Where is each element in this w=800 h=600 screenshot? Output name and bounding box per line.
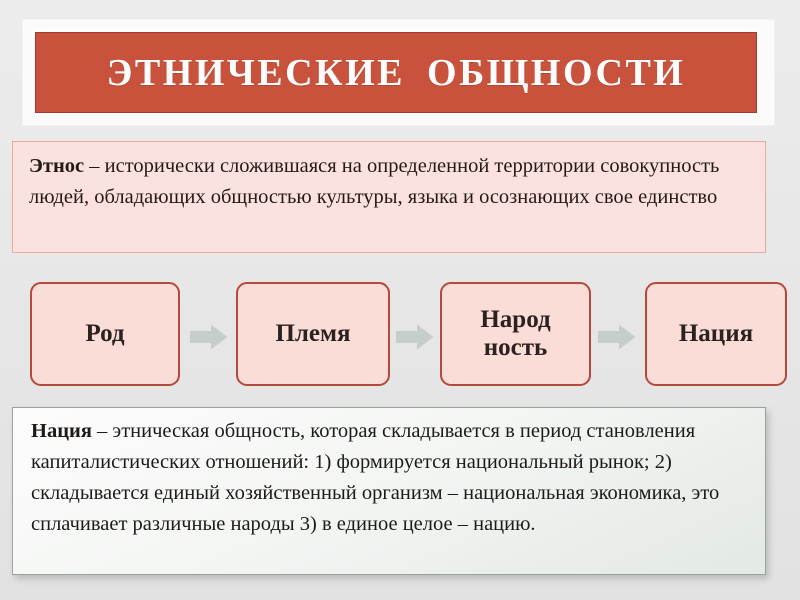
ethnic-stage-chain: Род Племя Народ ность Нация: [0, 282, 800, 386]
ethnos-definition-box: Этнос – исторически сложившаяся на опред…: [12, 141, 766, 253]
stage-label-plemya: Племя: [275, 320, 350, 348]
stage-label-natsiya: Нация: [679, 320, 753, 348]
stage-box-rod[interactable]: Род: [30, 282, 180, 386]
nation-term: Нация: [31, 420, 92, 442]
title-banner: Этнические общности: [35, 32, 757, 113]
arrow-right-icon: [396, 324, 434, 350]
ethnos-separator: –: [84, 155, 105, 177]
ethnos-body: исторически сложившаяся на определенной …: [29, 155, 719, 208]
ethnos-definition-text: Этнос – исторически сложившаяся на опред…: [29, 151, 751, 213]
nation-definition-box: Нация – этническая общность, которая скл…: [12, 407, 766, 575]
stage-label-narodnost: Народ ность: [480, 306, 550, 362]
stage-box-natsiya[interactable]: Нация: [645, 282, 787, 386]
stage-box-narodnost[interactable]: Народ ность: [440, 282, 591, 386]
stage-label-rod: Род: [85, 320, 124, 348]
nation-body: этническая общность, которая складываетс…: [31, 420, 719, 535]
ethnos-term: Этнос: [29, 155, 84, 177]
slide-canvas: Этнические общности Этнос – исторически …: [0, 0, 800, 600]
nation-separator: –: [92, 420, 113, 442]
stage-box-plemya[interactable]: Племя: [236, 282, 390, 386]
nation-definition-text: Нация – этническая общность, которая скл…: [31, 416, 751, 540]
arrow-right-icon: [598, 324, 636, 350]
page-title: Этнические общности: [107, 54, 686, 92]
arrow-right-icon: [190, 324, 228, 350]
